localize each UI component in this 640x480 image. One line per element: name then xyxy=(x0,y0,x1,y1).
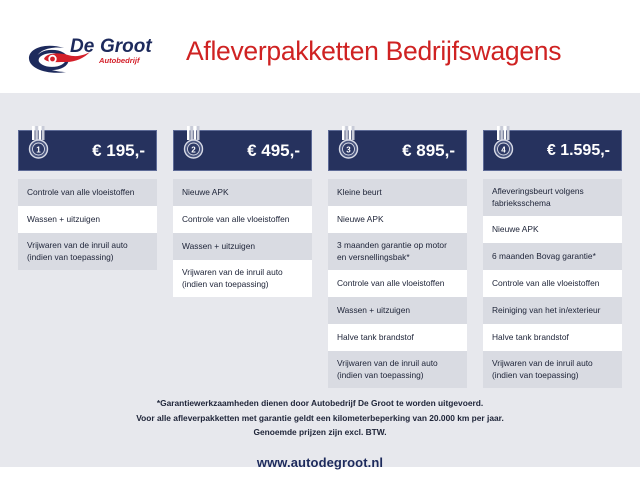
list-item: 3 maanden garantie op motoren versnellin… xyxy=(328,233,467,270)
feature-list-3: Kleine beurt Nieuwe APK 3 maanden garant… xyxy=(328,179,467,388)
feature-list-4: Afleveringsbeurt volgensfabrieksschema N… xyxy=(483,179,622,388)
package-column-2: 2 € 495,- Nieuwe APK Controle van alle v… xyxy=(173,130,312,390)
price-header-3[interactable]: 3 € 895,- xyxy=(328,130,467,171)
package-columns: 1 € 195,- Controle van alle vloeistoffen… xyxy=(18,130,622,390)
svg-text:Autobedrijf: Autobedrijf xyxy=(98,56,141,65)
list-item: Wassen + uitzuigen xyxy=(328,297,467,324)
page-footer: *Garantiewerkzaamheden dienen door Autob… xyxy=(0,396,640,470)
list-item: Controle van alle vloeistoffen xyxy=(328,270,467,297)
list-item: Controle van alle vloeistoffen xyxy=(483,270,622,297)
price-label-4: € 1.595,- xyxy=(547,142,610,160)
package-column-4: 4 € 1.595,- Afleveringsbeurt volgensfabr… xyxy=(483,130,622,390)
list-item: Controle van alle vloeistoffen xyxy=(18,179,157,206)
medal-rank-3: 3 xyxy=(346,145,351,154)
feature-list-1: Controle van alle vloeistoffen Wassen + … xyxy=(18,179,157,270)
list-item: Vrijwaren van de inruil auto(indien van … xyxy=(18,233,157,270)
de-groot-logo-icon: De Groot Autobedrijf xyxy=(26,32,166,78)
feature-list-2: Nieuwe APK Controle van alle vloeistoffe… xyxy=(173,179,312,297)
price-header-4[interactable]: 4 € 1.595,- xyxy=(483,130,622,171)
company-logo: De Groot Autobedrijf xyxy=(26,32,166,78)
website-link[interactable]: www.autodegroot.nl xyxy=(0,455,640,470)
page-header: De Groot Autobedrijf Afleverpakketten Be… xyxy=(0,0,640,93)
list-item: Vrijwaren van de inruil auto(indien van … xyxy=(173,260,312,297)
list-item: Kleine beurt xyxy=(328,179,467,206)
list-item: Reiniging van het in/exterieur xyxy=(483,297,622,324)
list-item: Vrijwaren van de inruil auto(indien van … xyxy=(328,351,467,388)
medal-ribbon-icon-3: 3 xyxy=(337,126,361,164)
package-column-3: 3 € 895,- Kleine beurt Nieuwe APK 3 maan… xyxy=(328,130,467,390)
svg-text:De: De xyxy=(70,36,95,57)
list-item: Wassen + uitzuigen xyxy=(173,233,312,260)
list-item: Nieuwe APK xyxy=(483,216,622,243)
list-item: Nieuwe APK xyxy=(173,179,312,206)
afleverpakketten-page: De Groot Autobedrijf Afleverpakketten Be… xyxy=(0,0,640,480)
medal-ribbon-icon-1: 1 xyxy=(27,126,51,164)
medal-rank-2: 2 xyxy=(191,145,196,154)
list-item: Wassen + uitzuigen xyxy=(18,206,157,233)
medal-ribbon-icon-4: 4 xyxy=(492,126,516,164)
footnote-line-2: Voor alle afleverpakketten met garantie … xyxy=(0,411,640,426)
list-item: Halve tank brandstof xyxy=(328,324,467,351)
footnote-line-3: Genoemde prijzen zijn excl. BTW. xyxy=(0,425,640,440)
page-title: Afleverpakketten Bedrijfswagens xyxy=(186,36,561,67)
list-item: Vrijwaren van de inruil auto(indien van … xyxy=(483,351,622,388)
list-item: 6 maanden Bovag garantie* xyxy=(483,243,622,270)
content-panel: 1 € 195,- Controle van alle vloeistoffen… xyxy=(0,93,640,467)
footnote-line-1: *Garantiewerkzaamheden dienen door Autob… xyxy=(0,396,640,411)
price-header-2[interactable]: 2 € 495,- xyxy=(173,130,312,171)
price-label-2: € 495,- xyxy=(247,141,300,161)
list-item: Afleveringsbeurt volgensfabrieksschema xyxy=(483,179,622,216)
list-item: Controle van alle vloeistoffen xyxy=(173,206,312,233)
package-column-1: 1 € 195,- Controle van alle vloeistoffen… xyxy=(18,130,157,390)
list-item: Nieuwe APK xyxy=(328,206,467,233)
list-item: Halve tank brandstof xyxy=(483,324,622,351)
price-label-1: € 195,- xyxy=(92,141,145,161)
svg-text:Groot: Groot xyxy=(100,36,152,57)
medal-ribbon-icon-2: 2 xyxy=(182,126,206,164)
medal-rank-4: 4 xyxy=(501,145,506,154)
price-label-3: € 895,- xyxy=(402,141,455,161)
price-header-1[interactable]: 1 € 195,- xyxy=(18,130,157,171)
medal-rank-1: 1 xyxy=(36,145,41,154)
